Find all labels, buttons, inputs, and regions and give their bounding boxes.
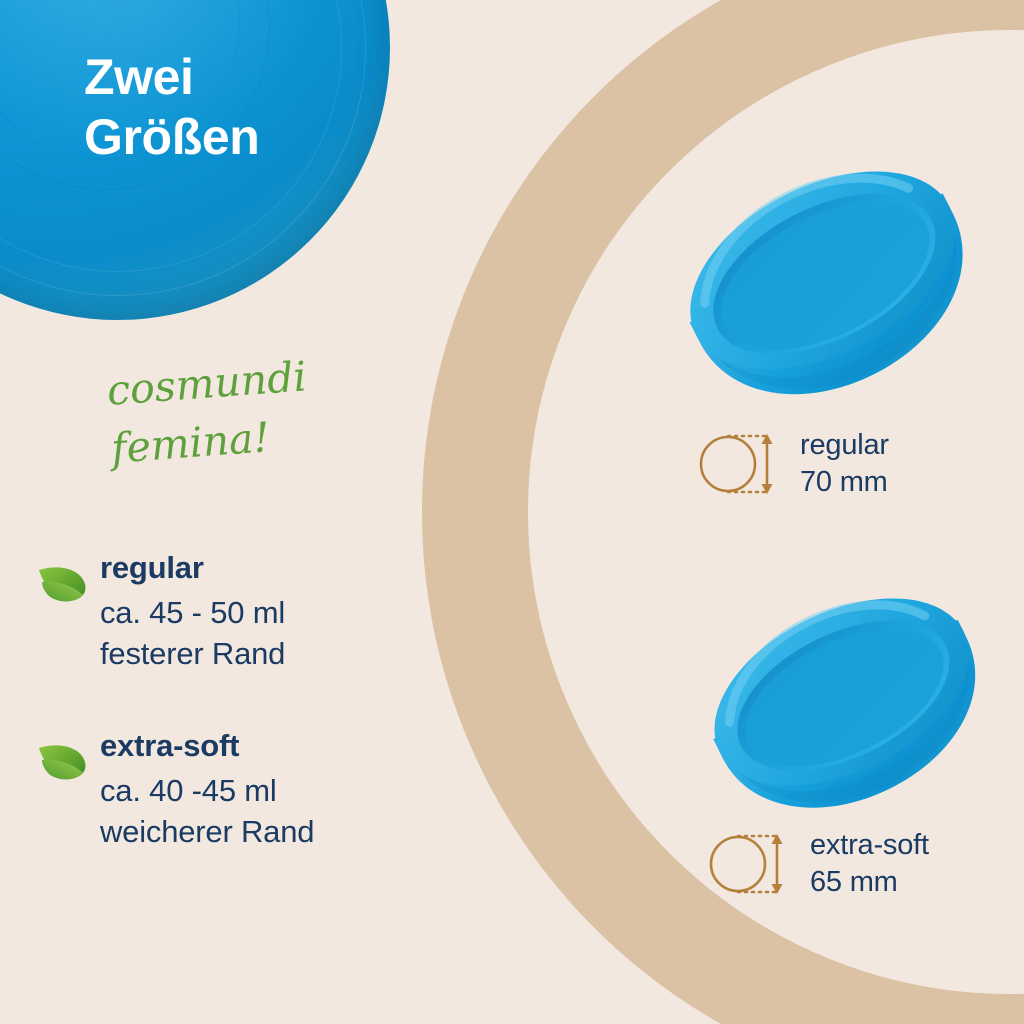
page-title: Zwei Größen — [84, 48, 259, 167]
feature-line-rim: festerer Rand — [100, 634, 285, 675]
feature-line-rim: weicherer Rand — [100, 812, 314, 853]
infographic-canvas: Zwei Größen cosmundi femina! regular c — [0, 0, 1024, 1024]
spec-row-extra-soft: extra-soft 65 mm — [708, 824, 929, 904]
feature-line-volume: ca. 40 -45 ml — [100, 771, 314, 812]
leaf-icon — [36, 562, 92, 610]
diameter-measure-icon — [698, 424, 786, 504]
feature-text-block: regular ca. 45 - 50 ml festerer Rand — [100, 548, 285, 674]
brand-script-logo: cosmundi femina! — [105, 347, 313, 478]
feature-list: regular ca. 45 - 50 ml festerer Rand ext… — [36, 548, 466, 905]
leaf-icon — [36, 740, 92, 788]
feature-text-block: extra-soft ca. 40 -45 ml weicherer Rand — [100, 726, 314, 852]
spec-label-extra-soft: extra-soft 65 mm — [810, 827, 929, 900]
diameter-measure-icon — [708, 824, 796, 904]
extra-soft-cup-photo — [690, 578, 1010, 840]
list-item: regular ca. 45 - 50 ml festerer Rand — [36, 548, 466, 674]
feature-title: extra-soft — [100, 726, 314, 766]
feature-title: regular — [100, 548, 285, 588]
spec-row-regular: regular 70 mm — [698, 424, 889, 504]
list-item: extra-soft ca. 40 -45 ml weicherer Rand — [36, 726, 466, 852]
spec-label-regular: regular 70 mm — [800, 427, 889, 500]
regular-cup-photo — [672, 158, 992, 420]
feature-line-volume: ca. 45 - 50 ml — [100, 593, 285, 634]
